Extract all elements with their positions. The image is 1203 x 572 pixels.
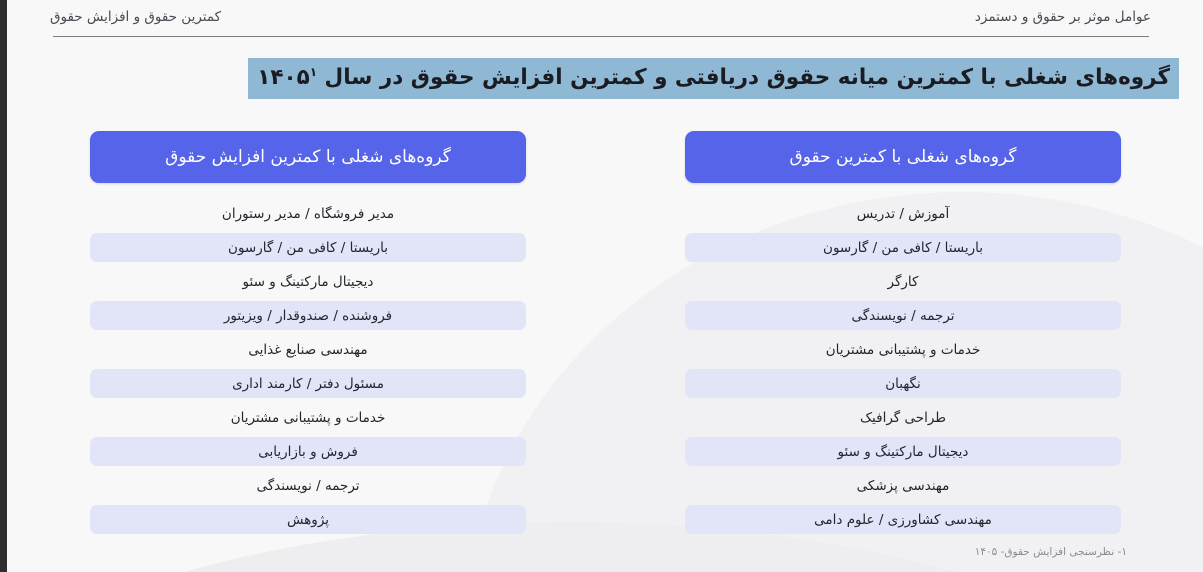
list-item[interactable]: دیجیتال مارکتینگ و سئو [685,437,1121,466]
list-item[interactable]: مهندسی کشاورزی / علوم دامی [685,505,1121,534]
list-item[interactable]: ترجمه / نویسندگی [685,301,1121,330]
job-list-lowest-salary: آموزش / تدریس باریستا / کافی من / گارسون… [685,199,1121,534]
list-item[interactable]: خدمات و پشتیبانی مشتریان [90,403,526,432]
left-edge-strip [0,0,7,572]
header-section-title: عوامل موثر بر حقوق و دستمزد [975,9,1151,25]
column-lowest-raise: گروه‌های شغلی با کمترین افزایش حقوق مدیر… [90,131,526,539]
list-item[interactable]: مهندسی صنایع غذایی [90,335,526,364]
list-item[interactable]: فروش و بازاریابی [90,437,526,466]
footnote-source: ۱- نظرسنجی افزایش حقوق- ۱۴۰۵ [975,546,1127,558]
title-row: گروه‌های شغلی با کمترین میانه حقوق دریاف… [28,58,1179,99]
list-item[interactable]: مدیر فروشگاه / مدیر رستوران [90,199,526,228]
column-header-lowest-raise[interactable]: گروه‌های شغلی با کمترین افزایش حقوق [90,131,526,183]
page-title-text: گروه‌های شغلی با کمترین میانه حقوق دریاف… [257,65,1170,90]
page-title: گروه‌های شغلی با کمترین میانه حقوق دریاف… [248,58,1179,99]
job-list-lowest-raise: مدیر فروشگاه / مدیر رستوران باریستا / کا… [90,199,526,534]
columns-container: گروه‌های شغلی با کمترین حقوق آموزش / تدر… [28,131,1179,539]
header-divider [53,36,1149,37]
top-header: عوامل موثر بر حقوق و دستمزد کمترین حقوق … [28,0,1179,34]
list-item[interactable]: دیجیتال مارکتینگ و سئو [90,267,526,296]
column-lowest-salary: گروه‌های شغلی با کمترین حقوق آموزش / تدر… [685,131,1121,539]
list-item[interactable]: مسئول دفتر / کارمند اداری [90,369,526,398]
list-item[interactable]: نگهبان [685,369,1121,398]
list-item[interactable]: باریستا / کافی من / گارسون [90,233,526,262]
slide-container: عوامل موثر بر حقوق و دستمزد کمترین حقوق … [0,0,1203,572]
list-item[interactable]: آموزش / تدریس [685,199,1121,228]
list-item[interactable]: باریستا / کافی من / گارسون [685,233,1121,262]
list-item[interactable]: پژوهش [90,505,526,534]
header-subsection-title: کمترین حقوق و افزایش حقوق [50,9,221,25]
list-item[interactable]: طراحی گرافیک [685,403,1121,432]
column-header-lowest-salary[interactable]: گروه‌های شغلی با کمترین حقوق [685,131,1121,183]
list-item[interactable]: ترجمه / نویسندگی [90,471,526,500]
list-item[interactable]: فروشنده / صندوقدار / ویزیتور [90,301,526,330]
list-item[interactable]: خدمات و پشتیبانی مشتریان [685,335,1121,364]
list-item[interactable]: مهندسی پزشکی [685,471,1121,500]
list-item[interactable]: کارگر [685,267,1121,296]
footnote-marker: ۱ [310,65,317,79]
